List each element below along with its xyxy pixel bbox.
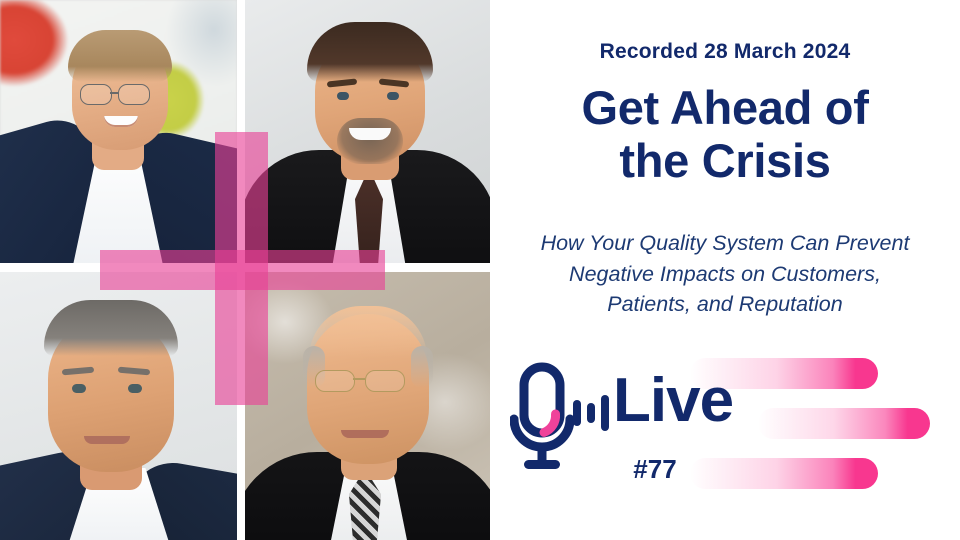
photo-hair [44,300,178,356]
speaker-photo-bottom-right [245,272,490,540]
page-subtitle-line-1: How Your Quality System Can Prevent [541,231,910,255]
live-logo-lockup: Live #77 [510,352,740,502]
page-subtitle: How Your Quality System Can Prevent Nega… [506,228,944,320]
page-title-line-1: Get Ahead of [581,81,868,134]
photo-eyeglass-bridge [110,92,118,94]
page-subtitle-line-3: Patients, and Reputation [607,292,842,316]
photo-smile [341,430,389,438]
page-title: Get Ahead of the Crisis [504,82,946,187]
page-subtitle-line-2: Negative Impacts on Customers, [569,262,881,286]
photo-smile [349,128,391,140]
pink-gradient-bar-2 [758,408,930,439]
photo-necktie [355,178,383,263]
photo-hair [307,22,433,82]
photo-eye-left [72,384,86,393]
photo-eyeglass-left [315,370,355,392]
photo-eyeglass-bridge [353,378,365,380]
episode-number: #77 [580,454,730,485]
sound-wave-bar-2 [587,403,595,423]
photo-necktie [349,478,381,540]
photo-eyeglass-right [365,370,405,392]
photo-smile [84,436,130,444]
recorded-date-label: Recorded 28 March 2024 [490,40,960,64]
page-title-line-2: the Crisis [619,134,830,187]
content-panel: Recorded 28 March 2024 Get Ahead of the … [490,0,960,540]
sound-wave-bars-icon [573,388,613,434]
photo-eyeglass-left [80,84,112,105]
speaker-photo-bottom-left [0,272,237,540]
photo-goatee [337,118,403,164]
photo-eye-right [387,92,399,100]
live-wordmark: Live [613,370,733,432]
photo-eyeglass-right [118,84,150,105]
speaker-photo-top-right [245,0,490,263]
sound-wave-bar-3 [601,395,609,431]
photo-hair-side-right [411,346,433,388]
photo-hair [68,30,172,82]
photo-eye-left [337,92,349,100]
speaker-photo-top-left [0,0,237,263]
photo-eye-right [128,384,142,393]
promo-graphic-canvas: Recorded 28 March 2024 Get Ahead of the … [0,0,960,540]
sound-wave-bar-1 [573,400,581,426]
speaker-photo-grid [0,0,490,540]
